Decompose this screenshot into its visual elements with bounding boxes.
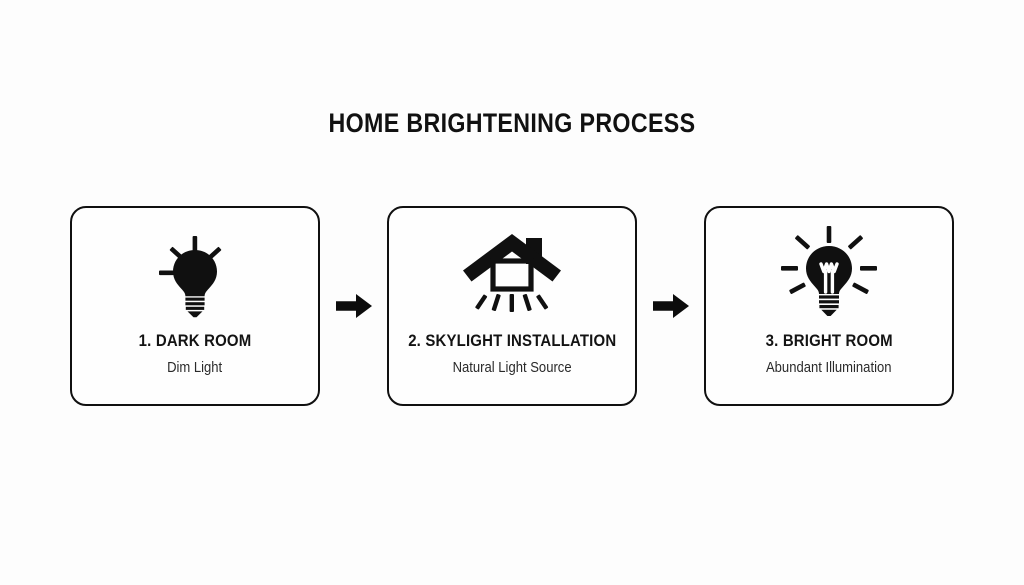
step-card-bright-room[interactable]: 3. BRIGHT ROOM Abundant Illumination xyxy=(704,206,954,406)
step-card-title: 1. DARK ROOM xyxy=(139,331,252,351)
step-card-subtitle: Dim Light xyxy=(167,360,222,376)
process-diagram: HOME BRIGHTENING PROCESS xyxy=(0,0,1024,585)
step-card-subtitle: Abundant Illumination xyxy=(766,360,892,376)
step-card-dark-room[interactable]: 1. DARK ROOM Dim Light xyxy=(70,206,320,406)
page-title: HOME BRIGHTENING PROCESS xyxy=(72,108,953,139)
roof-skylight-icon xyxy=(458,226,566,318)
arrow-right-icon xyxy=(332,289,376,323)
arrow-right-icon xyxy=(649,289,693,323)
bright-lightbulb-icon xyxy=(777,226,881,318)
process-flow-row: 1. DARK ROOM Dim Light xyxy=(70,205,954,407)
step-card-title: 2. SKYLIGHT INSTALLATION xyxy=(408,331,616,351)
step-card-skylight-installation[interactable]: 2. SKYLIGHT INSTALLATION Natural Light S… xyxy=(387,206,637,406)
step-card-subtitle: Natural Light Source xyxy=(453,360,572,376)
step-card-title: 3. BRIGHT ROOM xyxy=(765,331,892,351)
dim-lightbulb-icon xyxy=(149,226,241,318)
